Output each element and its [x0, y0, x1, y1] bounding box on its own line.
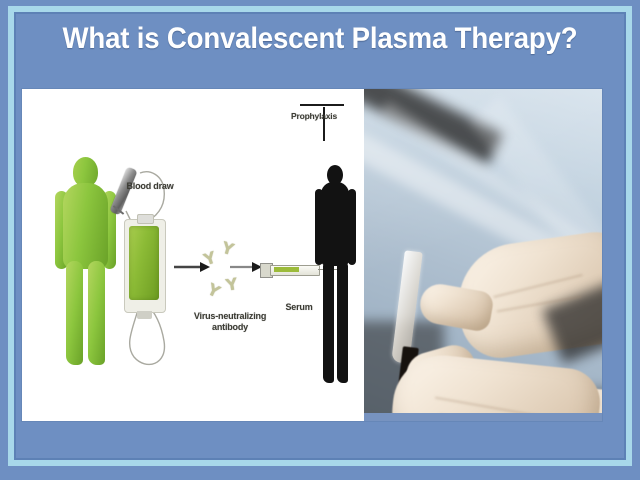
antibody-glyph-icon: Y	[204, 279, 223, 301]
antibody-glyph-icon: Y	[220, 238, 236, 259]
page-title: What is Convalescent Plasma Therapy?	[26, 22, 615, 56]
syringe-serum-fill	[274, 267, 299, 272]
recipient-torso	[321, 182, 349, 266]
plasma-bag-cap	[137, 214, 154, 224]
donor-figure-icon	[46, 157, 124, 365]
slide-canvas: What is Convalescent Plasma Therapy?	[0, 0, 640, 480]
plasma-bag-fill	[129, 226, 159, 300]
label-prophylaxis: Prophylaxis	[278, 111, 350, 122]
recipient-leg-left	[323, 261, 334, 383]
plasma-bag-icon	[124, 219, 166, 313]
media-panel: Blood draw Y Y Y Y Virus-neutralizing an…	[22, 89, 602, 421]
antibody-glyph-icon: Y	[224, 274, 239, 295]
plasma-bag-base	[137, 311, 152, 319]
donor-leg-right	[88, 261, 105, 365]
recipient-leg-right	[337, 261, 348, 383]
process-diagram: Blood draw Y Y Y Y Virus-neutralizing an…	[22, 89, 364, 421]
label-blood-draw: Blood draw	[122, 181, 178, 192]
donor-torso	[63, 183, 108, 269]
label-virus-neutralizing-antibody: Virus-neutralizing antibody	[188, 311, 272, 333]
photo-bottom-band	[364, 413, 602, 421]
antibody-glyph-icon: Y	[201, 248, 218, 270]
recipient-figure-icon	[312, 165, 358, 383]
donor-leg-left	[66, 261, 83, 365]
recipient-arm-right	[348, 189, 356, 265]
lab-photo	[364, 89, 602, 421]
